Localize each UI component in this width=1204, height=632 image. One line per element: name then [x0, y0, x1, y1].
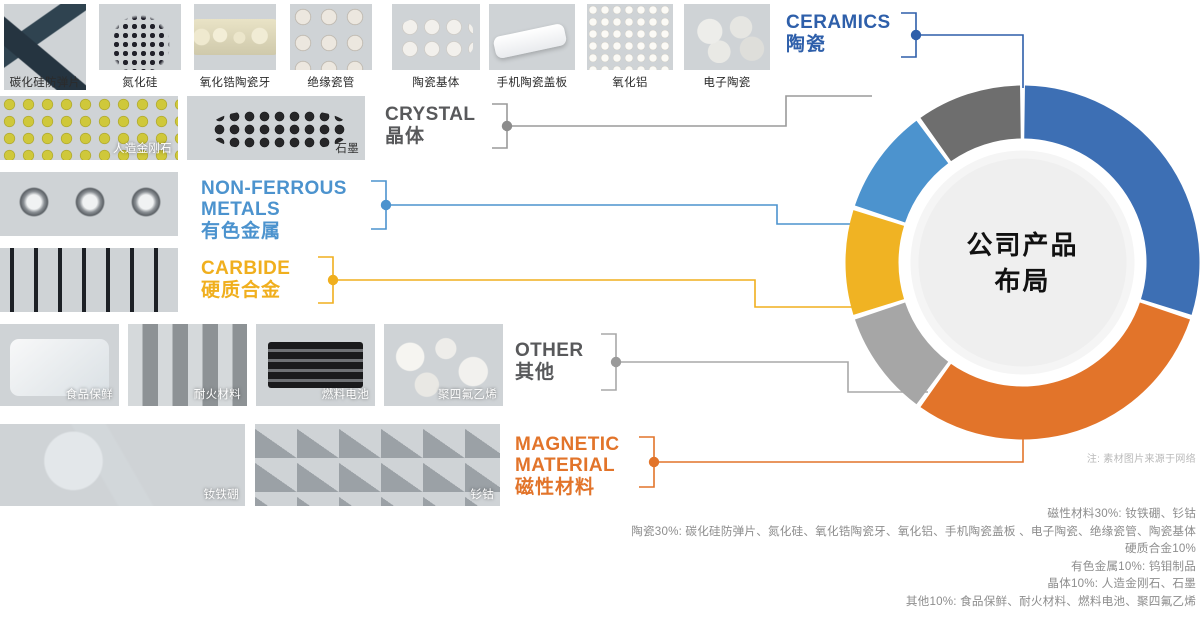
infographic-canvas: 碳化硅防弹片 氮化硅 氧化锆陶瓷牙 绝缘瓷管 陶瓷基体 手机陶瓷盖板 氧化铝 电…	[0, 0, 1204, 632]
thumbnail-graphite: 石墨	[187, 96, 365, 160]
thumbnail-caption: 碳化硅防弹片	[0, 74, 90, 90]
thumbnail-ndfeb: 钕铁硼	[0, 424, 245, 506]
thumbnail-phone-cover-caption-box: 手机陶瓷盖板	[483, 4, 581, 90]
thumbnail-sic-caption-box: 碳化硅防弹片	[0, 4, 90, 90]
thumbnail-caption: 燃料电池	[322, 386, 369, 402]
thumbnail-refractory: 耐火材料	[128, 324, 247, 406]
thumbnail-tungsten-molybdenum	[0, 172, 178, 236]
connector-dot-magnetic	[649, 457, 659, 467]
thumbnail-ptfe: 聚四氟乙烯	[384, 324, 503, 406]
category-label-cn: 有色金属	[201, 220, 347, 243]
thumbnail-synthetic-diamond: 人造金刚石	[0, 96, 178, 160]
thumbnail-caption: 钐钴	[470, 486, 494, 502]
thumbnail-caption: 氮化硅	[95, 74, 185, 90]
connector-dot-nonferrous	[381, 200, 391, 210]
category-label-cn: 陶瓷	[786, 33, 891, 56]
category-label-cn: 晶体	[385, 125, 475, 148]
thumbnail-caption: 耐火材料	[194, 386, 241, 402]
category-label-cn: 其他	[515, 361, 584, 384]
thumbnail-caption: 氧化铝	[585, 74, 675, 90]
product-distribution-donut-chart[interactable]: 公司产品 布局	[845, 85, 1200, 440]
category-label-crystal[interactable]: CRYSTAL 晶体	[385, 104, 475, 148]
thumbnail-food-preservation: 食品保鲜	[0, 324, 119, 406]
source-note: 注: 素材图片来源于网络	[1087, 450, 1196, 465]
category-label-other[interactable]: OTHER 其他	[515, 340, 584, 384]
thumbnail-caption: 手机陶瓷盖板	[483, 74, 581, 90]
category-label-magnetic-material[interactable]: MAGNETIC MATERIAL 磁性材料	[515, 434, 620, 499]
thumbnail-insulating-tube-caption-box: 绝缘瓷管	[286, 4, 376, 90]
thumbnail-caption: 食品保鲜	[66, 386, 113, 402]
thumbnail-image	[0, 172, 178, 236]
category-label-en: CRYSTAL	[385, 104, 475, 125]
connector-dot-ceramics	[911, 30, 921, 40]
thumbnail-electronic-ceramics-caption-box: 电子陶瓷	[682, 4, 772, 90]
thumbnail-caption: 石墨	[335, 140, 359, 156]
legend-row: 陶瓷30%: 碳化硅防弹片、氮化硅、氧化锆陶瓷牙、氧化铝、手机陶瓷盖板 、电子陶…	[6, 523, 1196, 541]
category-label-ceramics[interactable]: CERAMICS 陶瓷	[786, 12, 891, 56]
category-label-cn: 硬质合金	[201, 279, 290, 302]
thumbnail-caption: 人造金刚石	[113, 140, 172, 156]
thumbnail-smco: 钐钴	[255, 424, 500, 506]
connector-dot-other	[611, 357, 621, 367]
thumbnail-image	[255, 424, 500, 506]
category-label-en: OTHER	[515, 340, 584, 361]
legend-list: 磁性材料30%: 钕铁硼、钐钴 陶瓷30%: 碳化硅防弹片、氮化硅、氧化锆陶瓷牙…	[6, 505, 1196, 610]
category-label-carbide[interactable]: CARBIDE 硬质合金	[201, 258, 290, 302]
thumbnail-image	[0, 248, 178, 312]
thumbnail-caption: 陶瓷基体	[390, 74, 482, 90]
thumbnail-caption: 钕铁硼	[204, 486, 239, 502]
thumbnail-alumina-caption-box: 氧化铝	[585, 4, 675, 90]
thumbnail-si3n4-caption-box: 氮化硅	[95, 4, 185, 90]
category-label-en: NON-FERROUS METALS	[201, 178, 347, 220]
category-label-non-ferrous-metals[interactable]: NON-FERROUS METALS 有色金属	[201, 178, 347, 243]
thumbnail-ceramic-substrate-caption-box: 陶瓷基体	[390, 4, 482, 90]
donut-center-title: 公司产品 布局	[845, 227, 1200, 299]
thumbnail-caption: 电子陶瓷	[682, 74, 772, 90]
thumbnail-zirconia-tooth-caption-box: 氧化锆陶瓷牙	[186, 4, 284, 90]
legend-row: 其他10%: 食品保鲜、耐火材料、燃料电池、聚四氟乙烯	[6, 593, 1196, 611]
thumbnail-carbide-drills	[0, 248, 178, 312]
legend-row: 硬质合金10%	[6, 540, 1196, 558]
category-label-en: CARBIDE	[201, 258, 290, 279]
thumbnail-caption: 氧化锆陶瓷牙	[186, 74, 284, 90]
thumbnail-caption: 聚四氟乙烯	[438, 386, 497, 402]
thumbnail-caption: 绝缘瓷管	[286, 74, 376, 90]
connector-dot-crystal	[502, 121, 512, 131]
legend-row: 有色金属10%: 钨钼制品	[6, 558, 1196, 576]
thumbnail-fuel-cell: 燃料电池	[256, 324, 375, 406]
category-label-en: CERAMICS	[786, 12, 891, 33]
category-label-cn: 磁性材料	[515, 476, 620, 499]
legend-row: 磁性材料30%: 钕铁硼、钐钴	[6, 505, 1196, 523]
connector-dot-carbide	[328, 275, 338, 285]
category-label-en: MAGNETIC MATERIAL	[515, 434, 620, 476]
legend-row: 晶体10%: 人造金刚石、石墨	[6, 575, 1196, 593]
